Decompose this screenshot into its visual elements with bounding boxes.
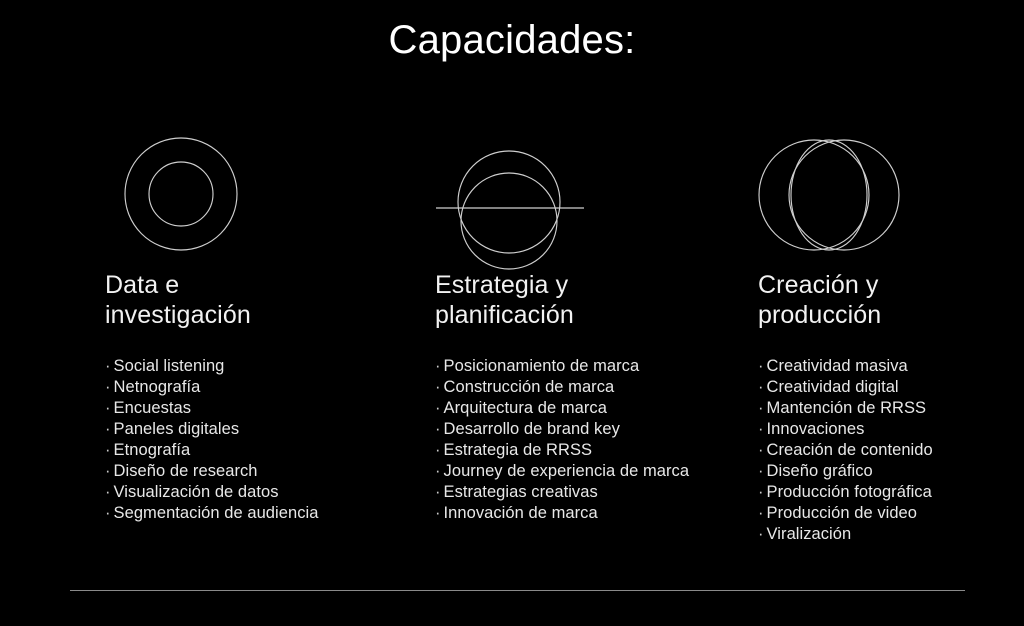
list-item-label: Etnografía	[114, 441, 191, 459]
list-item: ·Visualización de datos	[105, 482, 405, 503]
list-item: ·Innovación de marca	[435, 503, 735, 524]
bullet-icon: ·	[105, 483, 111, 501]
list-item: ·Producción fotográfica	[758, 482, 1024, 503]
icon-container	[105, 120, 405, 270]
list-item: ·Viralización	[758, 524, 1024, 545]
list-item: ·Creatividad masiva	[758, 356, 1024, 377]
list-item: ·Journey de experiencia de marca	[435, 461, 735, 482]
list-item: ·Arquitectura de marca	[435, 398, 735, 419]
list-item: ·Estrategias creativas	[435, 482, 735, 503]
list-item: ·Paneles digitales	[105, 419, 405, 440]
icon-container	[435, 120, 735, 270]
bullet-icon: ·	[435, 504, 441, 522]
bullet-icon: ·	[105, 420, 111, 438]
list-item-label: Creatividad digital	[767, 378, 899, 396]
capability-column-estrategia-y-planificacion: Estrategia y planificación ·Posicionamie…	[435, 120, 735, 524]
list-item: ·Construcción de marca	[435, 377, 735, 398]
bullet-icon: ·	[435, 378, 441, 396]
capability-column-data-e-investigacion: Data e investigación ·Social listening ·…	[105, 120, 405, 524]
list-item-label: Social listening	[114, 357, 225, 375]
capability-list: ·Social listening ·Netnografía ·Encuesta…	[105, 356, 405, 524]
column-heading: Data e investigación	[105, 270, 405, 330]
list-item-label: Posicionamiento de marca	[444, 357, 640, 375]
list-item-label: Mantención de RRSS	[767, 399, 927, 417]
bullet-icon: ·	[758, 525, 764, 543]
list-item-label: Viralización	[767, 525, 852, 543]
capability-columns: Data e investigación ·Social listening ·…	[0, 120, 1024, 600]
list-item: ·Creatividad digital	[758, 377, 1024, 398]
concentric-circles-icon	[119, 132, 249, 262]
list-item-label: Diseño de research	[114, 462, 258, 480]
bullet-icon: ·	[105, 378, 111, 396]
bullet-icon: ·	[758, 504, 764, 522]
list-item-label: Innovaciones	[767, 420, 865, 438]
capability-list: ·Creatividad masiva ·Creatividad digital…	[758, 356, 1024, 545]
list-item-label: Estrategia de RRSS	[444, 441, 593, 459]
column-heading: Creación y producción	[758, 270, 1024, 330]
list-item-label: Journey de experiencia de marca	[444, 462, 690, 480]
bullet-icon: ·	[105, 441, 111, 459]
list-item: ·Estrategia de RRSS	[435, 440, 735, 461]
list-item: ·Segmentación de audiencia	[105, 503, 405, 524]
list-item: ·Posicionamiento de marca	[435, 356, 735, 377]
bullet-icon: ·	[105, 357, 111, 375]
list-item-label: Construcción de marca	[444, 378, 615, 396]
column-heading: Estrategia y planificación	[435, 270, 735, 330]
list-item-label: Visualización de datos	[114, 483, 279, 501]
overlapping-circles-with-axis-icon	[434, 124, 594, 264]
list-item-label: Segmentación de audiencia	[114, 504, 319, 522]
list-item-label: Desarrollo de brand key	[444, 420, 620, 438]
list-item-label: Creatividad masiva	[767, 357, 908, 375]
capability-list: ·Posicionamiento de marca ·Construcción …	[435, 356, 735, 524]
list-item: ·Social listening	[105, 356, 405, 377]
list-item-label: Encuestas	[114, 399, 192, 417]
list-item-label: Arquitectura de marca	[444, 399, 607, 417]
list-item: ·Desarrollo de brand key	[435, 419, 735, 440]
bullet-icon: ·	[758, 462, 764, 480]
page-title: Capacidades:	[0, 16, 1024, 64]
bullet-icon: ·	[105, 399, 111, 417]
list-item-label: Producción fotográfica	[767, 483, 932, 501]
bullet-icon: ·	[435, 483, 441, 501]
bullet-icon: ·	[435, 420, 441, 438]
triple-overlapping-circles-icon	[758, 132, 918, 262]
list-item: ·Netnografía	[105, 377, 405, 398]
list-item-label: Creación de contenido	[767, 441, 933, 459]
bullet-icon: ·	[105, 462, 111, 480]
bullet-icon: ·	[758, 441, 764, 459]
bullet-icon: ·	[435, 462, 441, 480]
list-item: ·Mantención de RRSS	[758, 398, 1024, 419]
list-item: ·Diseño de research	[105, 461, 405, 482]
bullet-icon: ·	[758, 378, 764, 396]
bullet-icon: ·	[758, 357, 764, 375]
bullet-icon: ·	[435, 357, 441, 375]
list-item-label: Estrategias creativas	[444, 483, 598, 501]
list-item-label: Diseño gráfico	[767, 462, 873, 480]
list-item-label: Producción de video	[767, 504, 917, 522]
footer-divider	[70, 590, 965, 591]
list-item: ·Diseño gráfico	[758, 461, 1024, 482]
slide-root: Capacidades: Data e investigación ·Socia…	[0, 0, 1024, 626]
bullet-icon: ·	[435, 441, 441, 459]
bullet-icon: ·	[105, 504, 111, 522]
list-item: ·Innovaciones	[758, 419, 1024, 440]
list-item-label: Netnografía	[114, 378, 201, 396]
bullet-icon: ·	[758, 483, 764, 501]
list-item: ·Etnografía	[105, 440, 405, 461]
list-item: ·Producción de video	[758, 503, 1024, 524]
list-item-label: Innovación de marca	[444, 504, 598, 522]
capability-column-creacion-y-produccion: Creación y producción ·Creatividad masiv…	[758, 120, 1024, 545]
bullet-icon: ·	[758, 420, 764, 438]
list-item-label: Paneles digitales	[114, 420, 240, 438]
bullet-icon: ·	[435, 399, 441, 417]
bullet-icon: ·	[758, 399, 764, 417]
icon-container	[758, 120, 1024, 270]
list-item: ·Encuestas	[105, 398, 405, 419]
list-item: ·Creación de contenido	[758, 440, 1024, 461]
